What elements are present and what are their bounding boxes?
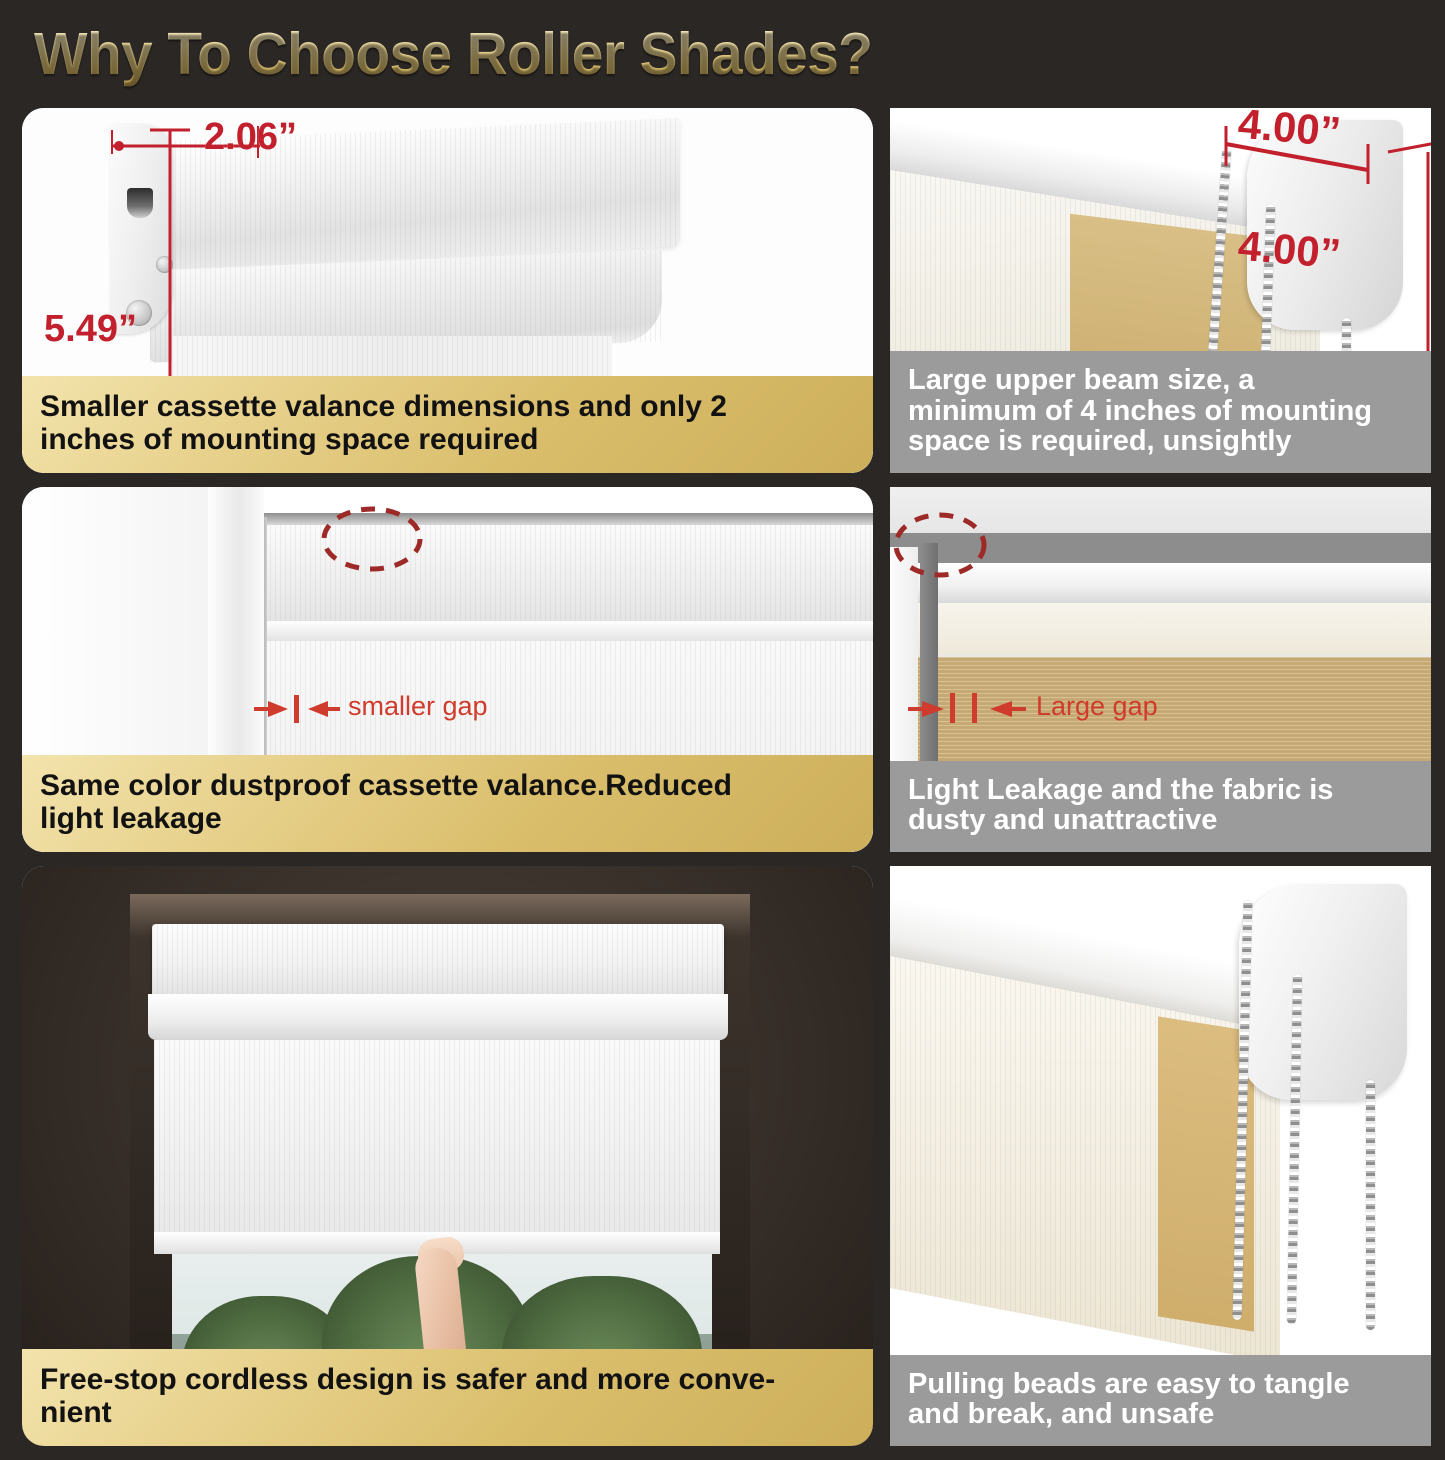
panel-light-leakage: Large gap Light Leakage and the fabric i… [890, 487, 1431, 852]
caption-line: minimum of 4 inches of mounting [908, 396, 1413, 427]
caption-line: light leakage [40, 802, 855, 836]
caption-line: Large upper beam size, a [908, 365, 1413, 396]
caption-line: Same color dustproof cassette valance.Re… [40, 769, 855, 803]
panel-caption-large-upper-beam: Large upper beam size, a minimum of 4 in… [890, 351, 1431, 473]
caption-line: space is required, unsightly [908, 426, 1413, 457]
panel-pulling-beads: Pulling beads are easy to tangle and bre… [890, 866, 1431, 1446]
panel-caption-pulling-beads: Pulling beads are easy to tangle and bre… [890, 1355, 1431, 1446]
panel-caption-dustproof-cassette-valance: Same color dustproof cassette valance.Re… [22, 755, 873, 852]
panel-caption-light-leakage: Light Leakage and the fabric is dusty an… [890, 761, 1431, 852]
panel-free-stop-cordless: Free-stop cordless design is safer and m… [22, 866, 873, 1446]
header-bar: Why To Choose Roller Shades? [0, 0, 1445, 108]
panel-dustproof-cassette-valance: smaller gap Same color dustproof cassett… [22, 487, 873, 852]
panel-caption-cassette-valance-dimensions: Smaller cassette valance dimensions and … [22, 376, 873, 473]
height-dimension-label: 4.00” [1236, 222, 1343, 279]
caption-line: and break, and unsafe [908, 1399, 1413, 1430]
panel-cassette-valance-dimensions: 2.06” 5.49” Smaller cassette valance dim… [22, 108, 873, 473]
caption-line: Free-stop cordless design is safer and m… [40, 1363, 855, 1397]
caption-line: Pulling beads are easy to tangle [908, 1369, 1413, 1400]
comparison-grid: 2.06” 5.49” Smaller cassette valance dim… [0, 108, 1445, 1460]
width-dimension-label: 2.06” [204, 116, 297, 159]
caption-line: Light Leakage and the fabric is [908, 775, 1413, 806]
panel-large-upper-beam: 4.00” 4.00” Large upper beam size, a min… [890, 108, 1431, 473]
caption-line: inches of mounting space required [40, 423, 855, 457]
caption-line: nient [40, 1396, 855, 1430]
height-dimension-label: 5.49” [44, 308, 137, 351]
gap-callout-label: smaller gap [348, 691, 488, 722]
gap-callout-label: Large gap [1036, 691, 1158, 722]
bead-chain [1366, 1080, 1375, 1330]
panel-caption-free-stop-cordless: Free-stop cordless design is safer and m… [22, 1349, 873, 1446]
page-title: Why To Choose Roller Shades? [34, 20, 872, 88]
caption-line: dusty and unattractive [908, 805, 1413, 836]
caption-line: Smaller cassette valance dimensions and … [40, 390, 855, 424]
